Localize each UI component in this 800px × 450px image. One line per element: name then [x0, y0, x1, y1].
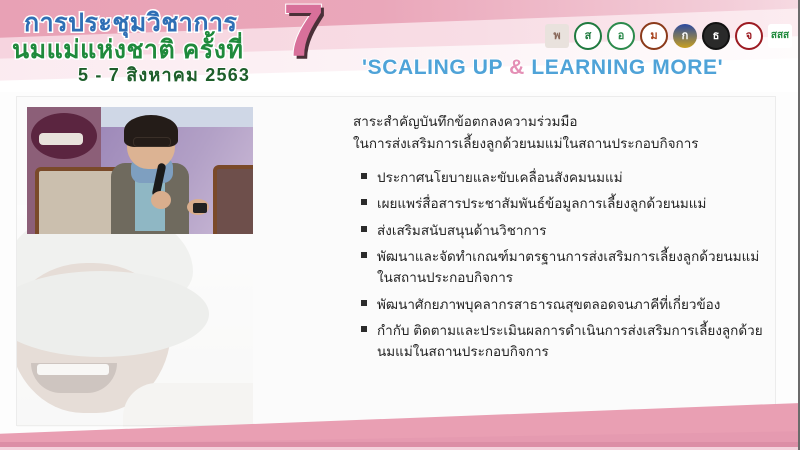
logo-royal-garuda-icon: ก: [673, 24, 697, 48]
conference-edition-number: 7: [283, 0, 324, 68]
list-item: ประกาศนโยบายและขับเคลื่อนสังคมนมแม่: [360, 167, 770, 188]
content-heading-line2: ในการส่งเสริมการเลี้ยงลูกด้วยนมแม่ในสถาน…: [353, 133, 773, 155]
list-item: ส่งเสริมสนับสนุนด้านวิชาการ: [360, 220, 770, 241]
media-column: [17, 97, 253, 427]
child-teeth: [37, 364, 109, 375]
speaker-hand-holding-mic: [151, 191, 171, 209]
video-backdrop-banner: [101, 107, 253, 127]
speaker-video-frame[interactable]: [27, 107, 253, 234]
list-item: พัฒนาศักยภาพบุคลากรสาธารณสุขตลอดจนภาคีที…: [360, 294, 770, 315]
video-closeup-teeth: [39, 133, 83, 145]
text-column: สาระสำคัญบันทึกข้อตกลงความร่วมมือ ในการส…: [265, 97, 777, 427]
presentation-slide: การประชุมวิชาการ นมแม่แห่งชาติ ครั้งที่ …: [0, 0, 800, 450]
content-heading: สาระสำคัญบันทึกข้อตกลงความร่วมมือ ในการส…: [353, 111, 773, 155]
tagline-part-before: 'SCALING UP: [362, 56, 509, 79]
slide-header: การประชุมวิชาการ นมแม่แห่งชาติ ครั้งที่ …: [0, 0, 800, 92]
content-heading-line1: สาระสำคัญบันทึกข้อตกลงความร่วมมือ: [353, 111, 773, 133]
logo-red-seal-university-icon: จ: [735, 22, 763, 50]
video-chair-right: [213, 165, 253, 234]
sponsor-logo-row: พ ส อ ม ก ธ จ สสส: [545, 22, 792, 50]
content-bullet-list: ประกาศนโยบายและขับเคลื่อนสังคมนมแม่ เผยแ…: [360, 167, 770, 368]
list-item: กำกับ ติดตามและประเมินผลการดำเนินการส่งเ…: [360, 320, 770, 363]
logo-thai-royal-emblem-icon: พ: [545, 24, 569, 48]
remote-clicker-icon: [193, 203, 207, 213]
list-item: เผยแพร่สื่อสารประชาสัมพันธ์ข้อมูลการเลี้…: [360, 193, 770, 214]
logo-black-seal-icon: ธ: [702, 22, 730, 50]
child-photo-background: [17, 205, 253, 427]
conference-date-range: 5 - 7 สิงหาคม 2563: [78, 60, 250, 89]
slide-content-panel: สาระสำคัญบันทึกข้อตกลงความร่วมมือ ในการส…: [16, 96, 776, 426]
tagline-part-after: LEARNING MORE': [525, 56, 723, 79]
child-shoulder: [123, 383, 253, 427]
logo-royal-crown-institute-icon: ม: [640, 22, 668, 50]
speaker-glasses: [133, 137, 171, 147]
logo-sss-thaihealth-icon: สสส: [768, 24, 792, 48]
tagline-ampersand: &: [509, 56, 525, 79]
logo-ministry-public-health-icon: ส: [574, 22, 602, 50]
logo-health-department-icon: อ: [607, 22, 635, 50]
conference-tagline: 'SCALING UP & LEARNING MORE': [362, 56, 723, 80]
list-item: พัฒนาและจัดทำเกณฑ์มาตรฐานการส่งเสริมการเ…: [360, 246, 770, 289]
